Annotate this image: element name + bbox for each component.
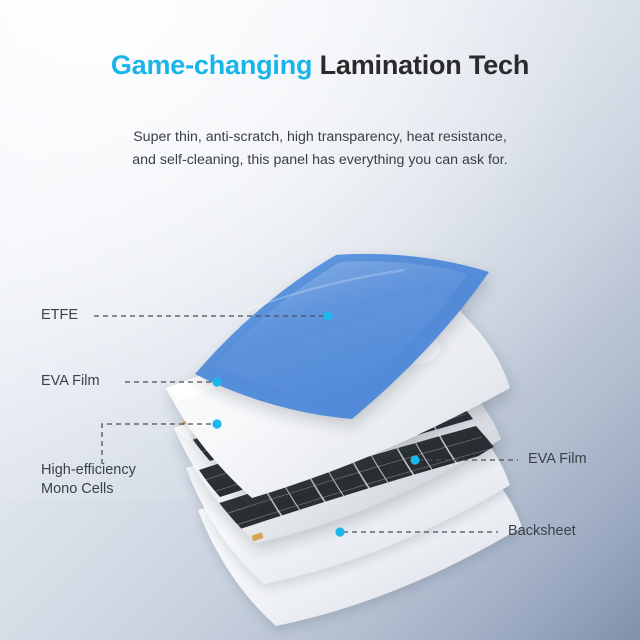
mono-cell-grid <box>189 362 497 531</box>
junction-tab-left <box>182 418 194 427</box>
subtitle-line-2: and self-cleaning, this panel has everyt… <box>70 149 570 172</box>
layer-etfe <box>195 254 489 419</box>
dot-eva-upper <box>212 377 221 386</box>
callout-label-etfe: ETFE <box>41 306 78 325</box>
layer-mono-cells <box>174 350 501 543</box>
page-title-accent: Game-changing <box>111 50 312 80</box>
layer-eva-film-lower <box>186 390 510 584</box>
layer-eva-film-upper <box>166 292 510 498</box>
callout-label-mono-cells: High-efficiency Mono Cells <box>41 461 136 499</box>
dot-eva-lower <box>410 455 419 464</box>
junction-tab-right <box>465 363 477 372</box>
leader-line-mono <box>102 424 214 464</box>
junction-box-bulge <box>393 331 452 378</box>
product-feature-graphic: Game-changing Lamination Tech Super thin… <box>0 0 640 640</box>
callout-label-backsheet: Backsheet <box>508 522 576 541</box>
callout-label-eva-film-upper: EVA Film <box>41 372 100 391</box>
dot-mono <box>212 419 221 428</box>
page-title: Game-changing Lamination Tech <box>0 50 640 81</box>
page-title-rest: Lamination Tech <box>312 50 529 80</box>
layer-backsheet <box>198 432 522 626</box>
callout-label-eva-film-lower: EVA Film <box>528 450 587 469</box>
dot-backsheet <box>335 527 344 536</box>
page-subtitle: Super thin, anti-scratch, high transpare… <box>70 126 570 172</box>
exploded-layer-diagram <box>0 0 640 640</box>
leader-lines <box>94 316 518 532</box>
junction-tab-bottom <box>251 532 263 541</box>
subtitle-line-1: Super thin, anti-scratch, high transpare… <box>70 126 570 149</box>
leader-dots <box>212 311 419 536</box>
dot-etfe <box>323 311 332 320</box>
